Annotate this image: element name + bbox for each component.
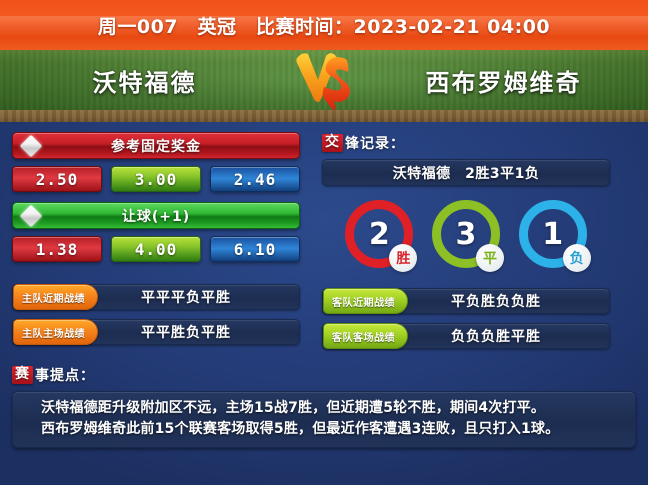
tips-body: 沃特福德距升级附加区不远，主场15战7胜，但近期遭5轮不胜，期间4次打平。 西布… (12, 391, 636, 448)
match-preview-page: 周一007 英冠 比赛时间：2023-02-21 04:00 沃特福德 (0, 0, 648, 485)
odds-home-win[interactable]: 2.50 (12, 166, 102, 192)
home-team-name: 沃特福德 (0, 63, 289, 98)
handicap-title: 让球(+1) (122, 206, 190, 226)
tips-line-1: 沃特福德距升级附加区不远，主场15战7胜，但近期遭5轮不胜，期间4次打平。 (23, 398, 625, 419)
h2h-ring-loss: 1 负 (519, 200, 587, 268)
h2h-summary: 沃特福德 2胜3平1负 (322, 159, 610, 186)
header-bar: 周一007 英冠 比赛时间：2023-02-21 04:00 (0, 0, 648, 50)
fixed-odds-row: 2.50 3.00 2.46 (12, 166, 300, 192)
fixed-odds-title-bar: 参考固定奖金 (12, 132, 300, 159)
home-home-form-row: 主队主场战绩 平平胜负平胜 (12, 319, 300, 345)
diamond-gem-icon (20, 134, 43, 157)
vs-flame-icon (294, 50, 354, 111)
odds-away-win[interactable]: 2.46 (210, 166, 300, 192)
h2h-column: 交 锋记录： 沃特福德 2胜3平1负 2 胜 3 平 1 负 (322, 132, 610, 358)
tips-section-title: 赛 事提点： (12, 364, 636, 386)
handicap-odds-row: 1.38 4.00 6.10 (12, 236, 300, 262)
h2h-ring-win: 2 胜 (345, 200, 413, 268)
away-recent-form-row: 客队近期战绩 平负胜负负胜 (322, 288, 610, 314)
odds-draw[interactable]: 3.00 (111, 166, 201, 192)
handicap-home-win[interactable]: 1.38 (12, 236, 102, 262)
odds-column: 参考固定奖金 2.50 3.00 2.46 让球(+1) 1.38 4.00 6… (12, 132, 300, 358)
h2h-section-title: 交 锋记录： (322, 132, 610, 154)
away-away-form-tag: 客队客场战绩 (323, 323, 408, 349)
home-recent-form-tag: 主队近期战绩 (13, 284, 98, 310)
handicap-draw[interactable]: 4.00 (111, 236, 201, 262)
h2h-ring-draw: 3 平 (432, 200, 500, 268)
h2h-loss-badge: 负 (563, 244, 591, 272)
header-title: 周一007 英冠 比赛时间：2023-02-21 04:00 (98, 12, 550, 39)
away-recent-form-tag: 客队近期战绩 (323, 288, 408, 314)
home-recent-form-row: 主队近期战绩 平平平负平胜 (12, 284, 300, 310)
h2h-win-badge: 胜 (389, 244, 417, 272)
home-form-group: 主队近期战绩 平平平负平胜 主队主场战绩 平平胜负平胜 (12, 284, 300, 345)
diamond-gem-icon (20, 204, 43, 227)
h2h-rings: 2 胜 3 平 1 负 (322, 200, 610, 268)
content-area: 参考固定奖金 2.50 3.00 2.46 让球(+1) 1.38 4.00 6… (0, 122, 648, 485)
fixed-odds-title: 参考固定奖金 (111, 136, 201, 156)
away-team-name: 西布罗姆维奇 (359, 63, 648, 98)
handicap-title-bar: 让球(+1) (12, 202, 300, 229)
teams-banner: 沃特福德 (0, 50, 648, 122)
tips-title-rest: 事提点： (35, 365, 95, 385)
handicap-away-win[interactable]: 6.10 (210, 236, 300, 262)
vs-icon (289, 50, 359, 111)
away-form-group: 客队近期战绩 平负胜负负胜 客队客场战绩 负负负胜平胜 (322, 288, 610, 349)
tips-section: 赛 事提点： 沃特福德距升级附加区不远，主场15战7胜，但近期遭5轮不胜，期间4… (12, 364, 636, 448)
away-away-form-row: 客队客场战绩 负负负胜平胜 (322, 323, 610, 349)
tips-title-kanji: 赛 (12, 366, 33, 384)
tips-line-2: 西布罗姆维奇此前15个联赛客场取得5胜，但最近作客遭遇3连败，且只打入1球。 (23, 419, 625, 440)
h2h-title-rest: 锋记录： (345, 133, 405, 153)
home-home-form-tag: 主队主场战绩 (13, 319, 98, 345)
h2h-title-kanji: 交 (322, 134, 343, 152)
h2h-draw-badge: 平 (476, 244, 504, 272)
